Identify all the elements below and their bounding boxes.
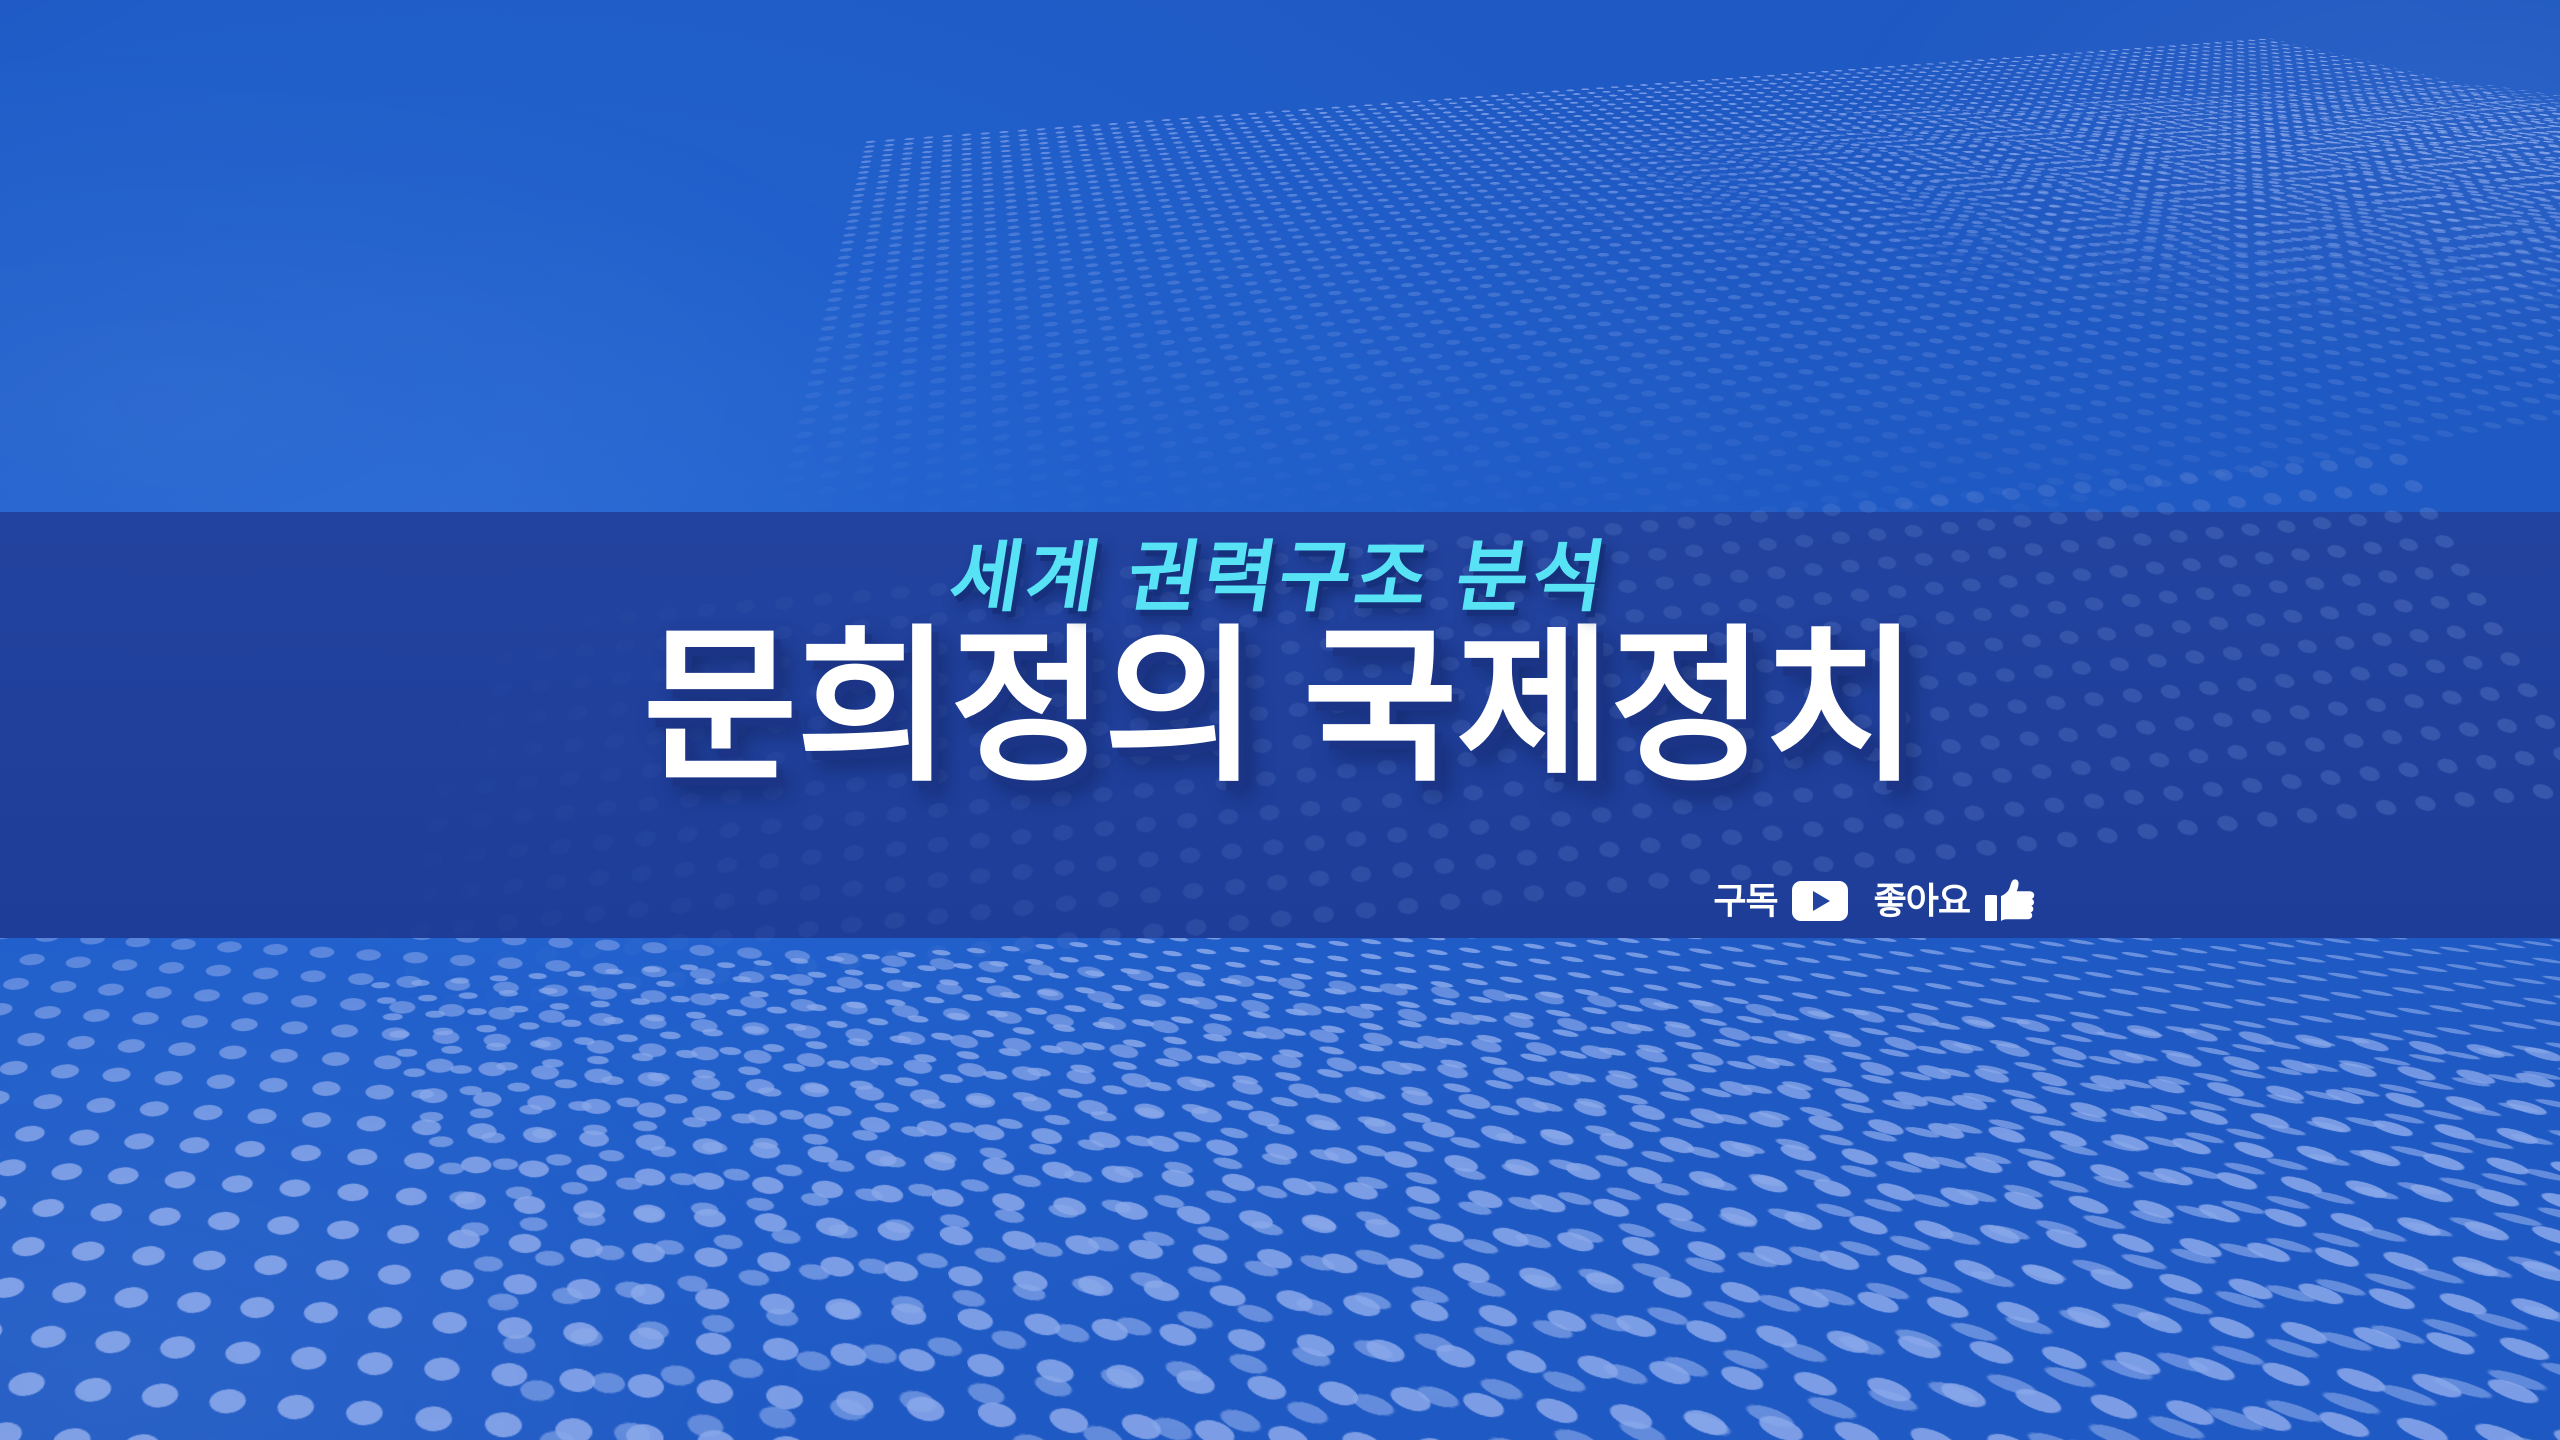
- subscribe-badge[interactable]: 구독: [1713, 881, 1847, 921]
- youtube-play-icon[interactable]: [1792, 881, 1848, 921]
- thumbs-up-icon[interactable]: [1984, 878, 2036, 924]
- play-triangle-icon: [1813, 891, 1830, 911]
- channel-banner: 세계 권력구조 분석 문희정의 국제정치 구독 좋아요: [0, 0, 2560, 1440]
- like-label: 좋아요: [1874, 883, 1970, 919]
- title-block: 세계 권력구조 분석 문희정의 국제정치 구독 좋아요: [0, 512, 2560, 938]
- subscribe-label: 구독: [1713, 883, 1777, 919]
- like-badge[interactable]: 좋아요: [1874, 878, 2036, 924]
- banner-title: 문희정의 국제정치: [643, 622, 1917, 793]
- banner-subtitle: 세계 권력구조 분석: [945, 538, 1615, 616]
- cta-badges: 구독 좋아요: [1713, 878, 2036, 924]
